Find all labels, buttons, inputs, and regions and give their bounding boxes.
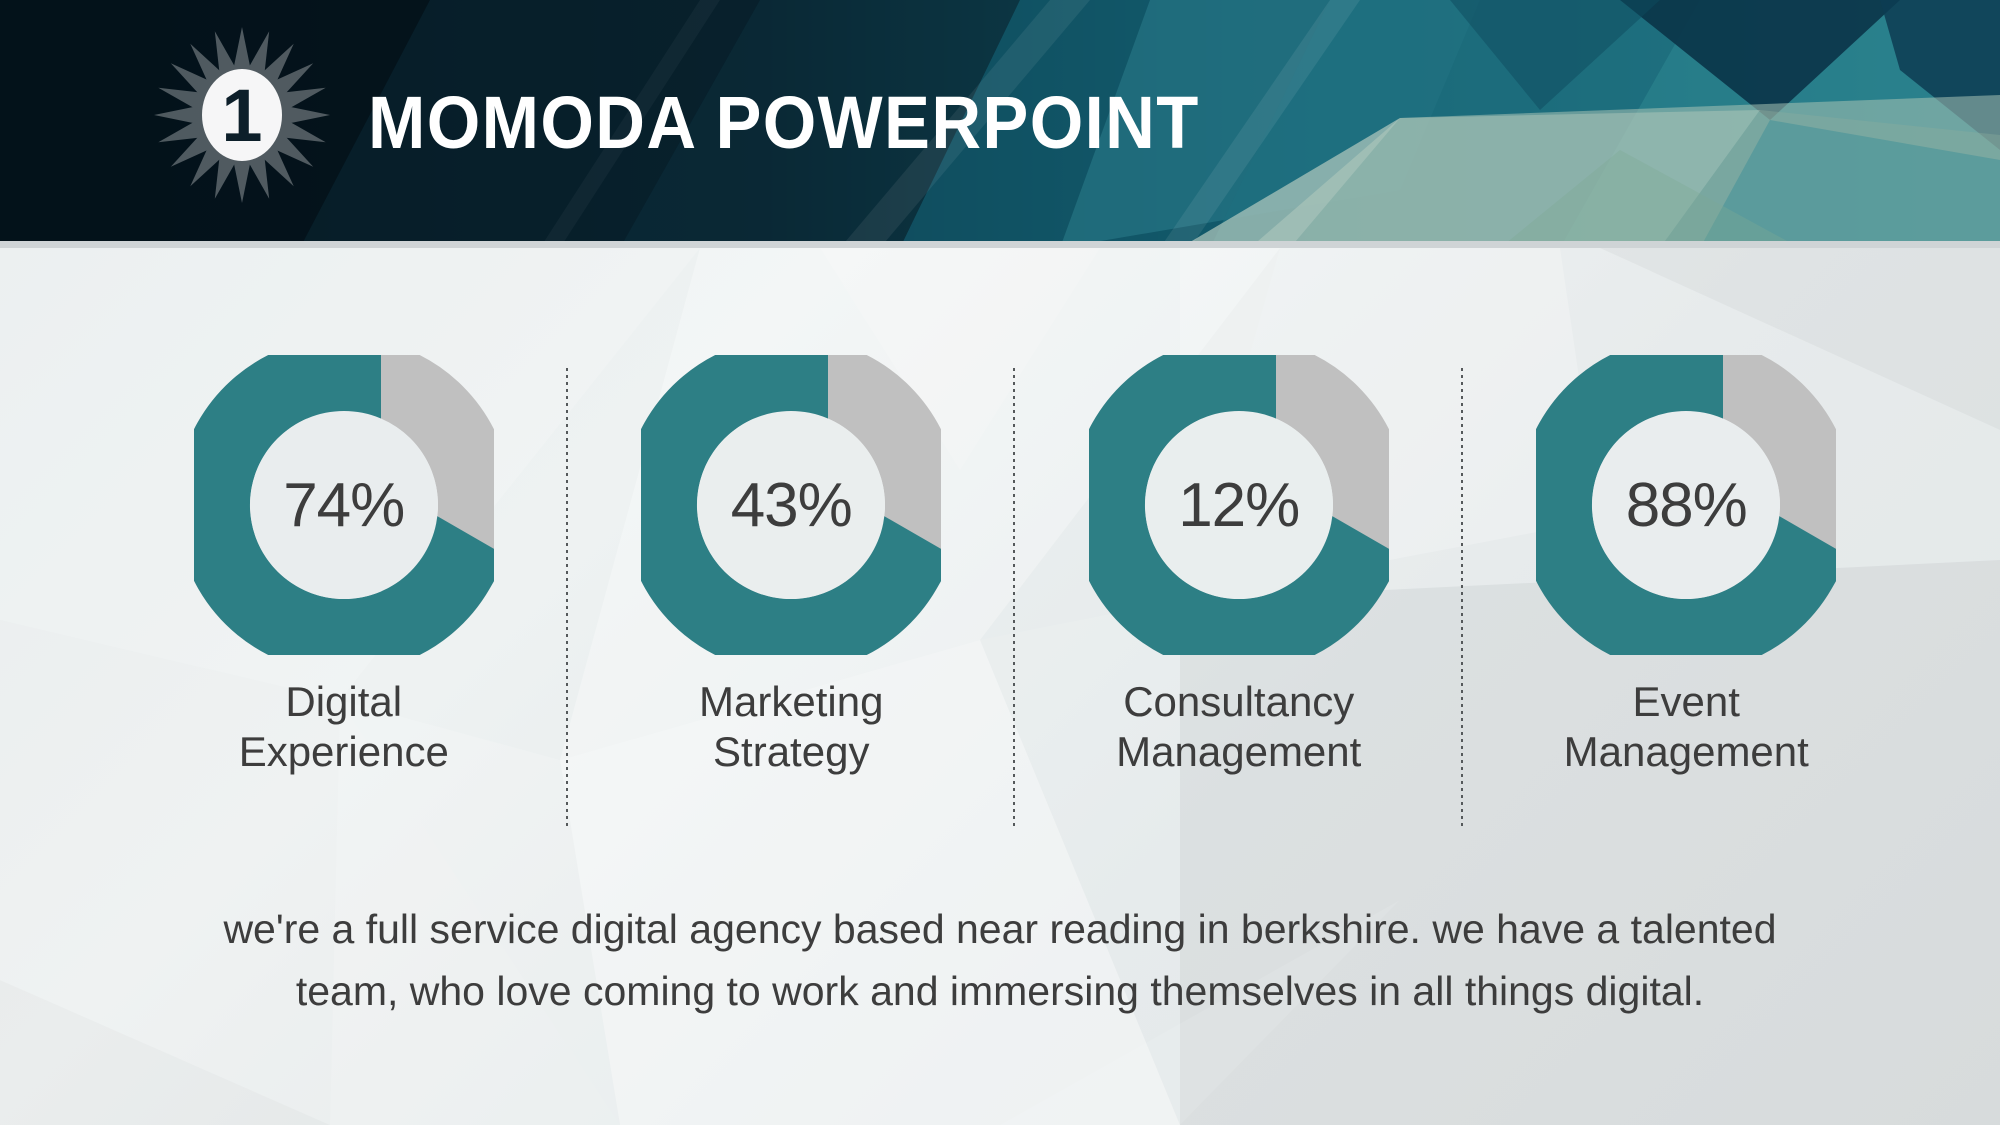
slide: 1 MOMODA POWERPOINT 74% Digital Experien…	[0, 0, 2000, 1125]
donut-label-2: Consultancy Management	[1116, 677, 1361, 776]
donut-chart-2: 12%	[1089, 355, 1389, 655]
page-title: MOMODA POWERPOINT	[368, 86, 1200, 160]
donut-label-3: Event Management	[1564, 677, 1809, 776]
donut-value-1: 43%	[641, 355, 941, 655]
donut-chart-cell-2: 12% Consultancy Management	[1015, 355, 1463, 795]
donut-chart-0: 74%	[194, 355, 494, 655]
donut-value-0: 74%	[194, 355, 494, 655]
donut-chart-cell-0: 74% Digital Experience	[120, 355, 568, 795]
donut-value-2: 12%	[1089, 355, 1389, 655]
slide-number-badge: 1	[152, 25, 332, 205]
donut-chart-1: 43%	[641, 355, 941, 655]
donut-chart-cell-3: 88% Event Management	[1463, 355, 1911, 795]
slide-number-text: 1	[152, 25, 332, 205]
header-bottom-rule	[0, 241, 2000, 248]
donut-chart-cell-1: 43% Marketing Strategy	[568, 355, 1016, 795]
donut-label-0: Digital Experience	[239, 677, 449, 776]
donut-chart-row: 74% Digital Experience 43% Marketing Str…	[120, 355, 1910, 795]
donut-chart-3: 88%	[1536, 355, 1836, 655]
slide-description: we're a full service digital agency base…	[175, 898, 1825, 1023]
donut-value-3: 88%	[1536, 355, 1836, 655]
donut-label-1: Marketing Strategy	[699, 677, 883, 776]
